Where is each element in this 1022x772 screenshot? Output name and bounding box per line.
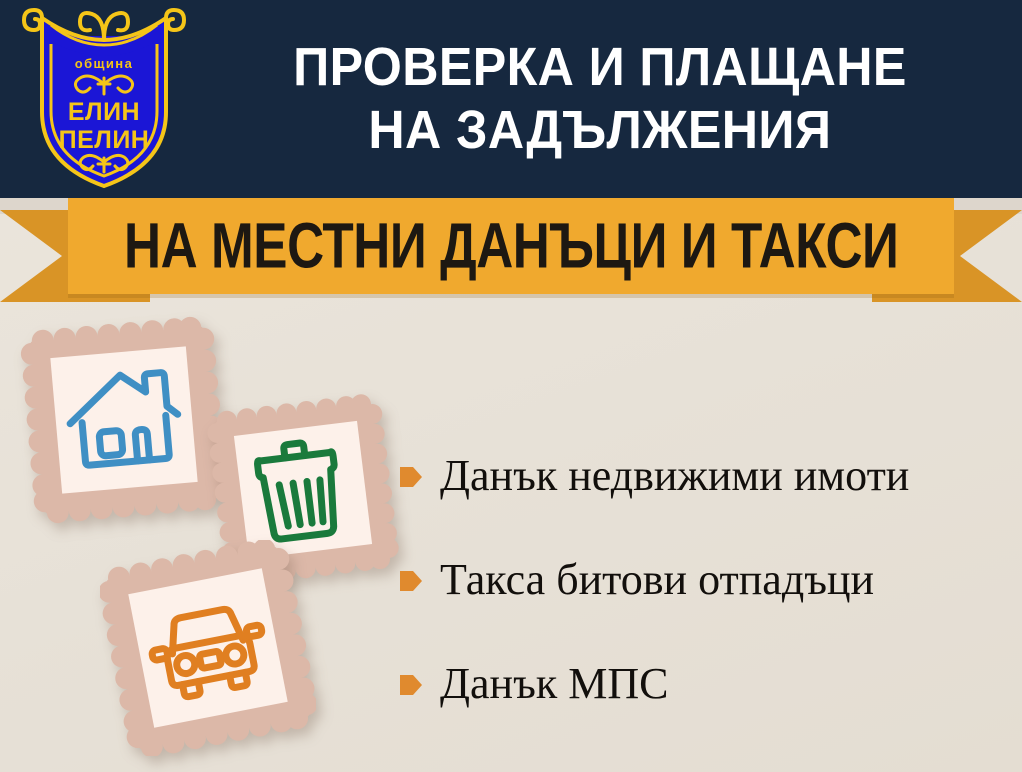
title-line-1: ПРОВЕРКА И ПЛАЩАНЕ — [293, 36, 907, 99]
crest-name-line1: ЕЛИН — [68, 98, 140, 126]
title-line-2: НА ЗАДЪЛЖЕНИЯ — [369, 99, 832, 162]
crest-name-line2: ПЕЛИН — [59, 126, 150, 154]
coat-of-arms: община ЕЛИН ПЕЛИН — [18, 4, 190, 190]
subtitle-ribbon: НА МЕСТНИ ДАНЪЦИ И ТАКСИ — [0, 196, 1022, 306]
arrow-pentagon-bullet-icon — [400, 568, 422, 594]
list-item-label: Такса битови отпадъци — [440, 558, 874, 602]
list-item-label: Данък недвижими имоти — [440, 454, 909, 498]
header-band: община ЕЛИН ПЕЛИН ПРОВЕРКА И — [0, 0, 1022, 198]
ribbon-banner: НА МЕСТНИ ДАНЪЦИ И ТАКСИ — [68, 198, 954, 294]
page-title: ПРОВЕРКА И ПЛАЩАНЕ НА ЗАДЪЛЖЕНИЯ — [190, 14, 1010, 184]
list-item-label: Данък МПС — [440, 662, 668, 706]
arrow-pentagon-bullet-icon — [400, 464, 422, 490]
arrow-pentagon-bullet-icon — [400, 672, 422, 698]
stamp-house — [16, 312, 232, 528]
poster-canvas: община ЕЛИН ПЕЛИН ПРОВЕРКА И — [0, 0, 1022, 772]
ribbon-label: НА МЕСТНИ ДАНЪЦИ И ТАКСИ — [124, 209, 898, 284]
list-item[interactable]: Такса битови отпадъци — [400, 528, 1010, 632]
crest-top-label: община — [75, 56, 133, 71]
list-item[interactable]: Данък МПС — [400, 632, 1010, 736]
stamp-car — [100, 540, 316, 756]
list-item[interactable]: Данък недвижими имоти — [400, 424, 1010, 528]
services-list: Данък недвижими имоти Такса битови отпад… — [400, 424, 1010, 736]
